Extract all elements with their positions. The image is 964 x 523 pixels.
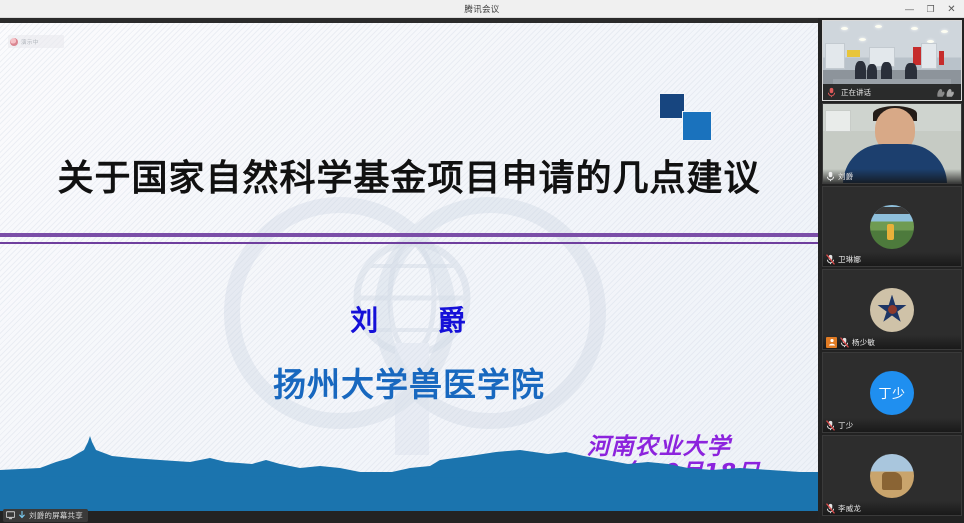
video-tile-person[interactable]: 刘爵 [822,103,962,184]
city-skyline-silhouette [0,406,818,511]
participant-name: 李威龙 [838,503,861,514]
presenter-icon [10,38,18,46]
window-controls: — ❐ ✕ [899,0,962,18]
divider-thick [0,233,818,237]
video-tile-avatar-initial[interactable]: 丁少 丁少 [822,352,962,433]
screen-share-indicator[interactable]: 刘爵的屏幕共享 [3,509,88,522]
host-badge-icon [826,337,837,348]
active-speaker-chip: 正在讲话 [823,84,961,100]
tile-label: 李威龙 [823,501,961,515]
microphone-muted-icon [826,503,835,514]
video-tile-avatar-star[interactable]: 杨少敏 [822,269,962,350]
divider-thin [0,242,818,244]
avatar: 丁少 [870,371,914,415]
video-tile-avatar-desert[interactable]: 李威龙 [822,435,962,516]
share-status-bar: 刘爵的屏幕共享 [0,511,818,523]
close-button[interactable]: ✕ [941,0,962,18]
slide-badge-label: 演示中 [21,38,39,46]
monitor-icon [6,511,15,520]
maximize-button[interactable]: ❐ [920,0,941,18]
avatar [870,454,914,498]
microphone-active-icon [826,171,835,182]
presentation-slide: 演示中 关于国家自然科学基金项目申请的几点建议 刘 爵 扬州大学兽医学院 [0,23,818,511]
participant-name: 杨少敏 [852,337,875,348]
tile-label: 刘爵 [823,169,961,183]
microphone-muted-icon [840,337,849,348]
avatar [870,288,914,332]
participant-name: 刘爵 [838,171,853,182]
tile-label: 卫琳娜 [823,252,961,266]
decorative-square-light [682,111,712,141]
speaker-affiliation: 扬州大学兽医学院 [0,358,818,406]
shared-screen-stage[interactable]: 演示中 关于国家自然科学基金项目申请的几点建议 刘 爵 扬州大学兽医学院 [0,18,818,523]
video-tile-avatar-lake[interactable]: 卫琳娜 [822,186,962,267]
speaker-surname: 刘 [350,304,380,337]
tile-label: 丁少 [823,418,961,432]
share-label: 刘爵的屏幕共享 [29,510,83,521]
raise-hand-icon [935,87,957,98]
speaker-given-name: 爵 [438,304,468,337]
slide-title: 关于国家自然科学基金项目申请的几点建议 [0,161,818,197]
tile-label: 杨少敏 [823,335,961,349]
download-arrow-icon [18,511,26,520]
speaker-name: 刘 爵 [0,299,818,339]
participant-filmstrip[interactable]: 正在讲话 [820,18,964,523]
participant-name: 丁少 [838,420,853,431]
video-tile-room[interactable]: 正在讲话 [822,20,962,101]
microphone-active-icon [827,87,836,98]
participant-name: 卫琳娜 [838,254,861,265]
title-bar: 腾讯会议 — ❐ ✕ [0,0,964,18]
minimize-button[interactable]: — [899,0,920,18]
meeting-body: 演示中 关于国家自然科学基金项目申请的几点建议 刘 爵 扬州大学兽医学院 [0,18,964,523]
microphone-muted-icon [826,420,835,431]
slide-presenter-badge: 演示中 [8,35,64,48]
tencent-meeting-window: 腾讯会议 — ❐ ✕ [0,0,964,523]
window-title: 腾讯会议 [0,3,964,15]
avatar [870,205,914,249]
microphone-muted-icon [826,254,835,265]
speaking-status-label: 正在讲话 [841,87,871,98]
